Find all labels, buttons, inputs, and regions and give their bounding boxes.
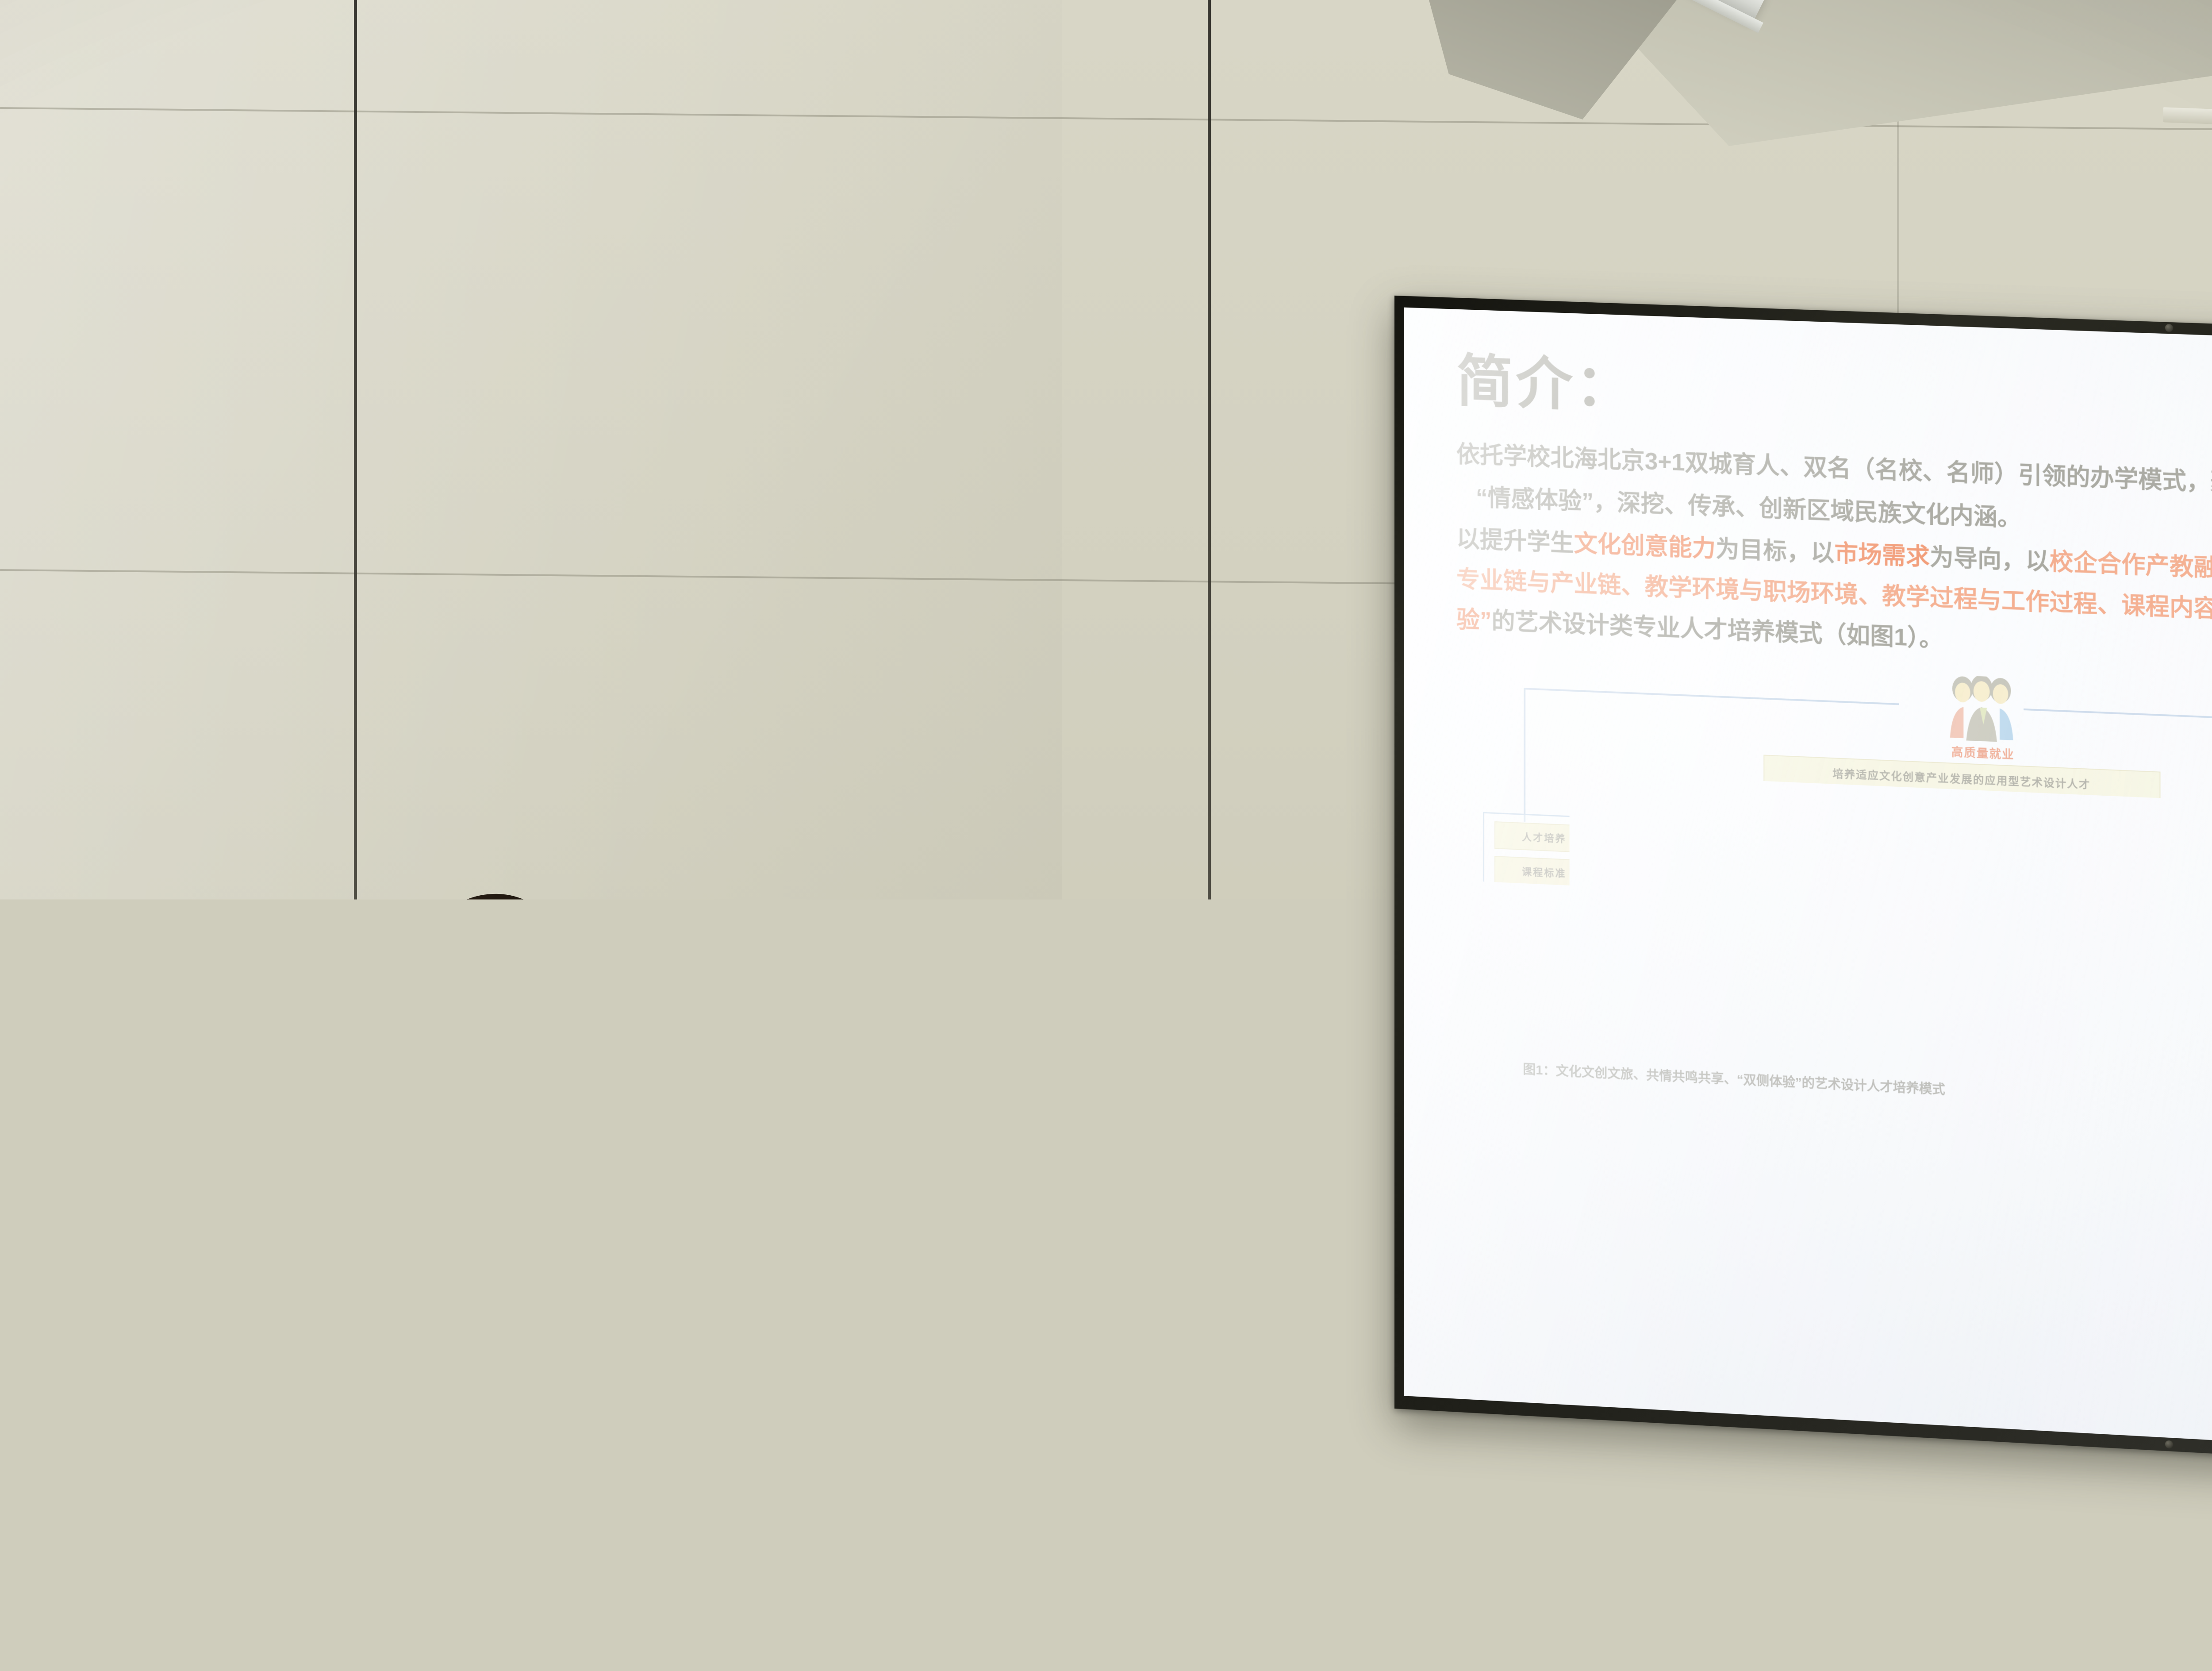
demand-side-chip: 需求侧 [2136, 1028, 2204, 1059]
lectern-podium: 设计艺术学院 School of Design and Art [447, 1359, 1194, 1671]
left-chip-2: 教学过程 [1494, 890, 1594, 922]
row-2-mid-label: 文化基础 [1830, 946, 1880, 964]
presentation-display[interactable]: 简介： 依托学校北海北京3+1双城育人、双名（名校、名师）引领的办学模式，聚焦文… [1394, 296, 2212, 1496]
school-arrow-label: 学校 [1616, 886, 1645, 907]
supply-side-chip: 供给侧 [1588, 1006, 1663, 1035]
podium-sign-text: 设计艺术学院 School of Design and Art [982, 1442, 1159, 1546]
school-name-chinese: 设计艺术学院 [982, 1442, 1159, 1486]
employment-label: 高质量就业 [1951, 743, 2015, 762]
display-screen[interactable]: 简介： 依托学校北海北京3+1双城育人、双名（名校、名师）引领的办学模式，聚焦文… [1404, 308, 2212, 1482]
figure-caption: 图1：文化文创文旅、共情共鸣共享、“双侧体验”的艺术设计人才培养模式 [1523, 1059, 1945, 1098]
row-0-right-label: 校企合作 [1964, 827, 2014, 845]
market-arrow-label: 行业 市场 [2198, 912, 2212, 935]
display-mount-screw-bottom [2165, 1440, 2173, 1448]
wall-seam-vertical-2 [1208, 0, 1211, 1671]
p2-seg2: 为目标，以 [1716, 536, 1834, 567]
row-1-chip: 创意设计思维 [1714, 898, 1786, 924]
p2-highlight-2: 市场需求 [1834, 540, 1930, 570]
loop-line-left-bottom [1524, 964, 1525, 1017]
row-0-left-label: 共 享 [1721, 816, 1751, 833]
dual-side-experience-label: “双侧” 体验 [1849, 1018, 1929, 1042]
row-0-mid-label: 文旅项目 [1830, 821, 1880, 839]
conference-room-scene: 简介： 依托学校北海北京3+1双城育人、双名（名校、名师）引领的办学模式，聚焦文… [0, 0, 2212, 1671]
school-arrow-icon: ❯ [1664, 871, 1697, 911]
p2-highlight-1: 文化创意能力 [1574, 530, 1716, 562]
row-0-chip: 创新创业意识 [1714, 835, 1786, 862]
presenter-nose [513, 1009, 538, 1043]
p2-seg3: 为导向，以 [1930, 544, 2049, 575]
row-2-left-label: 共 情 [1721, 941, 1751, 958]
row-1-left-label: 共 鸣 [1721, 878, 1751, 896]
p2-highlight-3: 校企合作产教融合 [2049, 549, 2212, 583]
row-2-chip: 多元文化素养 [1714, 960, 1786, 987]
podium-base [848, 1642, 1131, 1671]
left-chip-3: 教学环境 [1494, 925, 1594, 958]
school-a-monogram-logo [872, 1450, 964, 1573]
row-2-right-label: 情境带入 [1964, 952, 2014, 970]
p2-seg7: 的艺术设计类专业人才培养模式（如图1）。 [1492, 608, 1943, 652]
left-chip-0: 人才培养 [1494, 821, 1594, 853]
p2-seg1: 以提升学生 [1456, 526, 1574, 556]
talent-training-model-diagram: 高质量就业 培养适应文化创意产业发展的应用型艺术设计人才 ❯ [1456, 655, 2212, 1097]
display-mount-screw-top [2165, 324, 2173, 332]
row-1-mid-label: 文创产品 [1830, 883, 1880, 901]
loop-line-top-right [2024, 708, 2212, 726]
three-people-icon [1941, 675, 2022, 747]
loop-line-left-down [1524, 688, 1525, 822]
slide-content: 简介： 依托学校北海北京3+1双城育人、双名（名校、名师）引领的办学模式，聚焦文… [1404, 308, 2212, 1482]
shirt-chest-pocket [557, 1266, 624, 1332]
loop-line-top-left [1524, 688, 1899, 705]
up-arrow-icon: ❯ [1940, 790, 1974, 820]
left-chip-1: 课程标准 [1494, 856, 1594, 888]
row-1-right-label: 产教融合 [1964, 889, 2014, 908]
